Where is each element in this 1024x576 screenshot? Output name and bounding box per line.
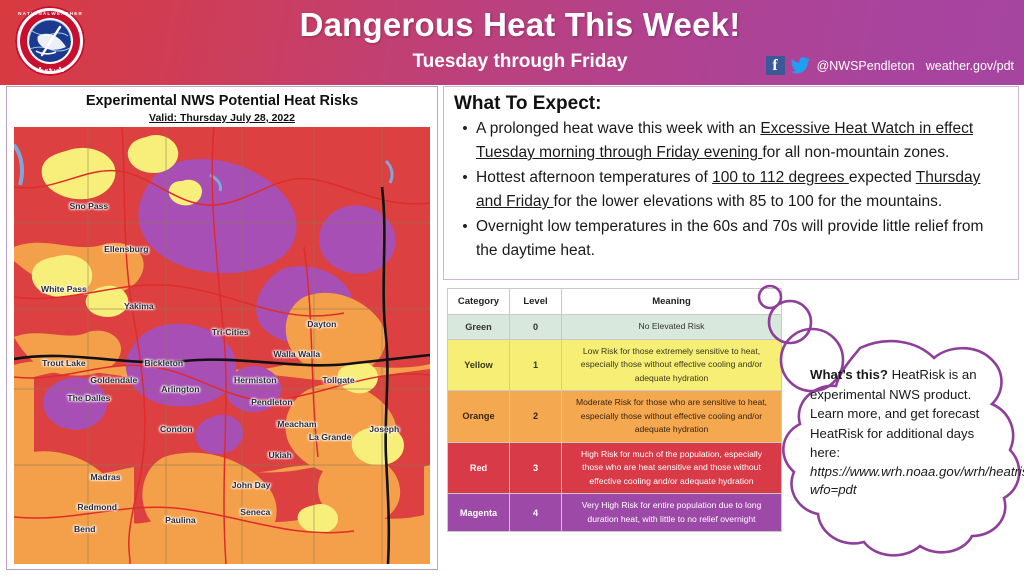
cell-level: 0	[510, 315, 562, 340]
table-row: Red3High Risk for much of the population…	[448, 442, 782, 494]
cell-meaning: Very High Risk for entire population due…	[562, 494, 782, 532]
table-header-row: Category Level Meaning	[448, 289, 782, 315]
table-row: Magenta4Very High Risk for entire popula…	[448, 494, 782, 532]
heatrisk-info-callout: What’s this? HeatRisk is an experimental…	[752, 282, 1024, 576]
map-valid-date: Valid: Thursday July 28, 2022	[7, 112, 437, 124]
callout-lead: What’s this?	[810, 367, 888, 382]
column-header-category: Category	[448, 289, 510, 315]
social-handle[interactable]: @NWSPendleton	[817, 59, 915, 73]
cell-category: Yellow	[448, 339, 510, 391]
bullet-text: Overnight low temperatures in the 60s an…	[476, 215, 1008, 263]
page-title: Dangerous Heat This Week!	[200, 6, 840, 44]
cell-meaning: Moderate Risk for those who are sensitiv…	[562, 391, 782, 443]
cell-category: Orange	[448, 391, 510, 443]
column-header-level: Level	[510, 289, 562, 315]
facebook-icon[interactable]: f	[766, 56, 785, 75]
bullet-marker: •	[454, 215, 476, 263]
page-header: N A T I O N A L W E A T H E R S E R V I …	[0, 0, 1024, 85]
cell-level: 4	[510, 494, 562, 532]
bullet-item: •Overnight low temperatures in the 60s a…	[454, 215, 1008, 263]
heat-risk-map-panel: Experimental NWS Potential Heat Risks Va…	[6, 86, 438, 570]
cell-meaning: High Risk for much of the population, es…	[562, 442, 782, 494]
table-row: Yellow1Low Risk for those extremely sens…	[448, 339, 782, 391]
cell-category: Magenta	[448, 494, 510, 532]
cell-meaning: No Elevated Risk	[562, 315, 782, 340]
heatrisk-legend-table: Category Level Meaning Green0No Elevated…	[447, 288, 782, 532]
cell-level: 1	[510, 339, 562, 391]
what-to-expect-heading: What To Expect:	[454, 93, 1008, 115]
social-website-url[interactable]: weather.gov/pdt	[926, 59, 1014, 73]
cell-category: Red	[448, 442, 510, 494]
map-title: Experimental NWS Potential Heat Risks	[7, 93, 437, 109]
heatrisk-url[interactable]: https://www.wrh.noaa.gov/wrh/heatrisk/?w…	[810, 463, 1002, 500]
social-links: f @NWSPendleton weather.gov/pdt	[766, 56, 1014, 75]
table-row: Orange2Moderate Risk for those who are s…	[448, 391, 782, 443]
bullet-item: •A prolonged heat wave this week with an…	[454, 117, 1008, 165]
what-to-expect-bullets: •A prolonged heat wave this week with an…	[454, 117, 1008, 263]
callout-text: What’s this? HeatRisk is an experimental…	[810, 365, 1002, 500]
page-subtitle: Tuesday through Friday	[200, 51, 840, 73]
bullet-item: •Hottest afternoon temperatures of 100 t…	[454, 166, 1008, 214]
cell-category: Green	[448, 315, 510, 340]
bullet-marker: •	[454, 166, 476, 214]
svg-text:N A T I O N A L W E A T H E: N A T I O N A L W E A T H E R	[18, 11, 82, 16]
column-header-meaning: Meaning	[562, 289, 782, 315]
cell-meaning: Low Risk for those extremely sensitive t…	[562, 339, 782, 391]
twitter-icon[interactable]	[790, 56, 810, 75]
cell-level: 3	[510, 442, 562, 494]
bullet-text: Hottest afternoon temperatures of 100 to…	[476, 166, 1008, 214]
table-row: Green0No Elevated Risk	[448, 315, 782, 340]
map-image[interactable]: Sno PassEllensburgWhite PassYakimaTri-Ci…	[14, 127, 430, 564]
bullet-marker: •	[454, 117, 476, 165]
bullet-text: A prolonged heat wave this week with an …	[476, 117, 1008, 165]
what-to-expect-panel: What To Expect: •A prolonged heat wave t…	[443, 86, 1019, 280]
nws-logo-icon: N A T I O N A L W E A T H E R S E R V I …	[14, 5, 86, 77]
cell-level: 2	[510, 391, 562, 443]
